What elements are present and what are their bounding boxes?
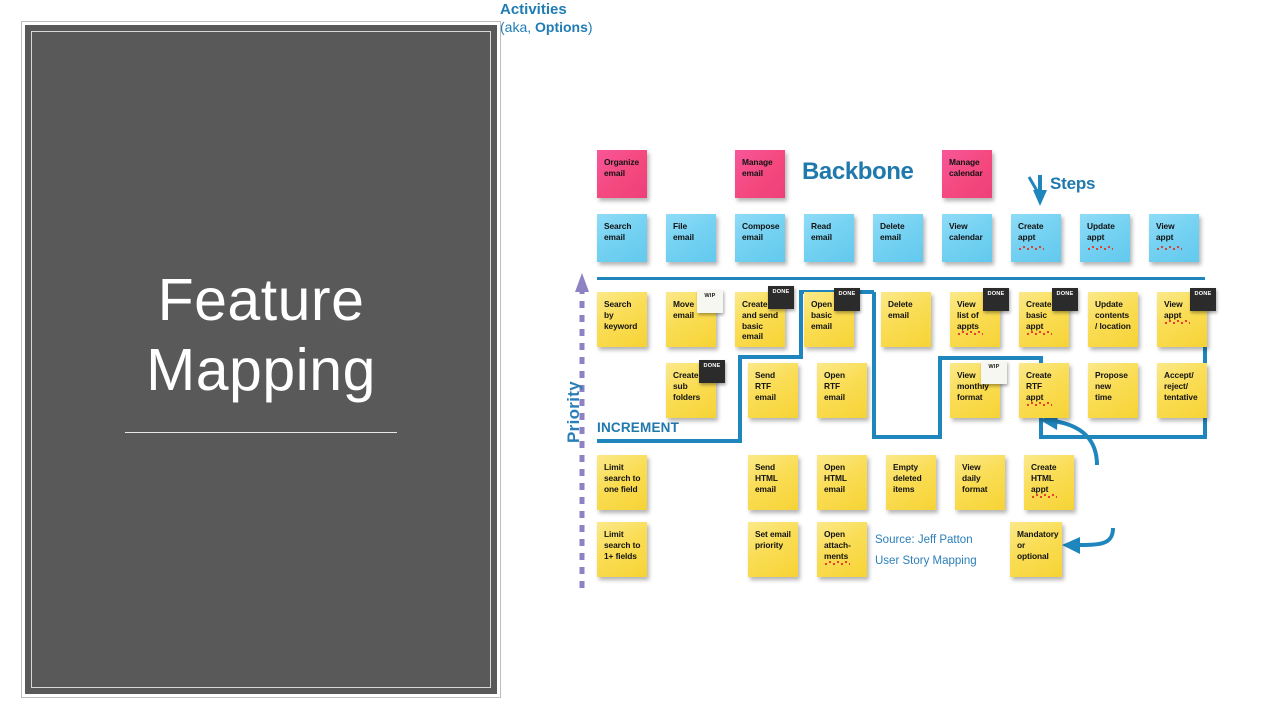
activities-sub-options: Options <box>535 19 588 35</box>
note-text: Create RTF appt <box>1026 370 1051 402</box>
sticky-note-manage-email[interactable]: Manage email <box>735 150 785 198</box>
note-text: File email <box>673 221 694 242</box>
spellcheck-squiggle-icon <box>1087 246 1113 250</box>
note-text: Open basic email <box>811 299 832 331</box>
sticky-note-create-sub-folders[interactable]: Create sub folders DONE <box>666 363 716 418</box>
note-text: View daily format <box>962 462 987 494</box>
wip-flag-icon: WIP <box>697 290 723 313</box>
sticky-note-create-html-appt[interactable]: Create HTML appt <box>1024 455 1074 510</box>
spellcheck-squiggle-icon <box>1156 246 1182 250</box>
spellcheck-squiggle-icon <box>1031 494 1057 498</box>
note-text: Read email <box>811 221 832 242</box>
sticky-note-send-html-email[interactable]: Send HTML email <box>748 455 798 510</box>
increment-label: INCREMENT <box>597 420 679 435</box>
note-text: Open HTML email <box>824 462 847 494</box>
note-text: Create appt <box>1018 221 1043 242</box>
sticky-note-manage-calendar[interactable]: Manage calendar <box>942 150 992 198</box>
note-text: View list of appts <box>957 299 979 331</box>
sticky-note-accept-reject-tentative[interactable]: Accept/ reject/ tentative <box>1157 363 1207 418</box>
note-text: Limit search to one field <box>604 462 640 494</box>
sticky-note-search-email[interactable]: Search email <box>597 214 647 262</box>
activities-sub-prefix: (aka, <box>500 19 535 35</box>
note-text: Open attach- ments <box>824 529 851 561</box>
note-text: Delete email <box>880 221 905 242</box>
note-text: Limit search to 1+ fields <box>604 529 640 561</box>
sticky-note-view-appt-detail[interactable]: View appt DONE <box>1157 292 1207 347</box>
note-text: Manage calendar <box>949 157 983 178</box>
page-title: Feature Mapping <box>146 266 376 405</box>
sticky-note-open-basic-email[interactable]: Open basic email DONE <box>804 292 854 347</box>
note-text: Move email <box>673 299 694 320</box>
sticky-note-open-html-email[interactable]: Open HTML email <box>817 455 867 510</box>
sticky-note-empty-deleted-items[interactable]: Empty deleted items <box>886 455 936 510</box>
title-slide-inner-border: Feature Mapping <box>31 31 491 688</box>
note-text: Compose email <box>742 221 779 242</box>
priority-axis: Priority <box>555 270 601 590</box>
sticky-note-create-rtf-appt[interactable]: Create RTF appt <box>1019 363 1069 418</box>
note-text: Set email priority <box>755 529 791 550</box>
note-text: View appt <box>1164 299 1183 320</box>
note-text: Create sub folders <box>673 370 700 402</box>
sticky-note-file-email[interactable]: File email <box>666 214 716 262</box>
sticky-note-read-email[interactable]: Read email <box>804 214 854 262</box>
sticky-note-propose-new-time[interactable]: Propose new time <box>1088 363 1138 418</box>
backbone-separator-line <box>597 277 1205 280</box>
spellcheck-squiggle-icon <box>1026 402 1052 406</box>
sticky-note-mandatory-or-optional[interactable]: Mandatory or optional <box>1010 522 1062 577</box>
sticky-note-send-rtf-email[interactable]: Send RTF email <box>748 363 798 418</box>
source-credit: Source: Jeff Patton User Story Mapping <box>875 530 977 573</box>
note-text: Update contents / location <box>1095 299 1131 331</box>
note-text: Search email <box>604 221 631 242</box>
title-slide-panel: Feature Mapping <box>22 22 500 697</box>
note-text: Open RTF email <box>824 370 845 402</box>
sticky-note-view-monthly-format[interactable]: View monthly format WIP <box>950 363 1000 418</box>
done-flag-icon: DONE <box>699 360 725 383</box>
story-map-diagram: Backbone Steps INCREMENT Activities (aka… <box>500 0 1280 720</box>
priority-axis-label: Priority <box>564 366 584 458</box>
sticky-note-create-basic-appt[interactable]: Create basic appt DONE <box>1019 292 1069 347</box>
note-text: Send RTF email <box>755 370 776 402</box>
done-flag-icon: DONE <box>1190 288 1216 311</box>
done-flag-icon: DONE <box>983 288 1009 311</box>
sticky-note-organize-email[interactable]: Organize email <box>597 150 647 198</box>
note-text: Search by keyword <box>604 299 637 331</box>
activities-main-text: Activities <box>500 0 1280 19</box>
sticky-note-move-email[interactable]: Move email WIP <box>666 292 716 347</box>
done-flag-icon: DONE <box>834 288 860 311</box>
sticky-note-create-and-send-basic-email[interactable]: Create and send basic email DONE <box>735 292 785 347</box>
note-text: Organize email <box>604 157 639 178</box>
note-text: Update appt <box>1087 221 1115 242</box>
note-text: View calendar <box>949 221 983 242</box>
sticky-note-update-appt[interactable]: Update appt <box>1080 214 1130 262</box>
sticky-note-limit-search-to-one-field[interactable]: Limit search to one field <box>597 455 647 510</box>
wip-flag-icon: WIP <box>981 361 1007 384</box>
annotation-arrows <box>500 0 1280 720</box>
activities-label: Activities (aka, Options) <box>500 0 1280 37</box>
sticky-note-delete-email-detail[interactable]: Delete email <box>881 292 931 347</box>
backbone-label: Backbone <box>802 158 914 186</box>
done-flag-icon: DONE <box>768 286 794 309</box>
sticky-note-limit-search-to-1plus-fields[interactable]: Limit search to 1+ fields <box>597 522 647 577</box>
sticky-note-open-rtf-email[interactable]: Open RTF email <box>817 363 867 418</box>
spellcheck-squiggle-icon <box>1018 246 1044 250</box>
note-text: Manage email <box>742 157 773 178</box>
note-text: Propose new time <box>1095 370 1128 402</box>
sticky-note-search-by-keyword[interactable]: Search by keyword <box>597 292 647 347</box>
sticky-note-set-email-priority[interactable]: Set email priority <box>748 522 798 577</box>
sticky-note-view-calendar[interactable]: View calendar <box>942 214 992 262</box>
sticky-note-view-list-of-appts[interactable]: View list of appts DONE <box>950 292 1000 347</box>
sticky-note-compose-email[interactable]: Compose email <box>735 214 785 262</box>
spellcheck-squiggle-icon <box>1164 320 1190 324</box>
note-text: Send HTML email <box>755 462 778 494</box>
sticky-note-delete-email-step[interactable]: Delete email <box>873 214 923 262</box>
title-divider <box>125 432 397 433</box>
sticky-note-view-daily-format[interactable]: View daily format <box>955 455 1005 510</box>
note-text: Create basic appt <box>1026 299 1051 331</box>
note-text: View appt <box>1156 221 1175 242</box>
note-text: Empty deleted items <box>893 462 922 494</box>
note-text: Mandatory or optional <box>1017 529 1058 561</box>
note-text: Create HTML appt <box>1031 462 1056 494</box>
spellcheck-squiggle-icon <box>957 331 983 335</box>
sticky-note-update-contents-location[interactable]: Update contents / location <box>1088 292 1138 347</box>
sticky-note-view-appt-step[interactable]: View appt <box>1149 214 1199 262</box>
spellcheck-squiggle-icon <box>1026 331 1052 335</box>
sticky-note-create-appt[interactable]: Create appt <box>1011 214 1061 262</box>
note-text: Delete email <box>888 299 913 320</box>
done-flag-icon: DONE <box>1052 288 1078 311</box>
increment-boundary-outline <box>500 0 1280 720</box>
activities-sub-text: (aka, Options) <box>500 19 1280 37</box>
activities-sub-suffix: ) <box>588 19 593 35</box>
steps-label: Steps <box>1050 174 1095 194</box>
sticky-note-open-attachments[interactable]: Open attach- ments <box>817 522 867 577</box>
note-text: Accept/ reject/ tentative <box>1164 370 1198 402</box>
spellcheck-squiggle-icon <box>824 561 850 565</box>
